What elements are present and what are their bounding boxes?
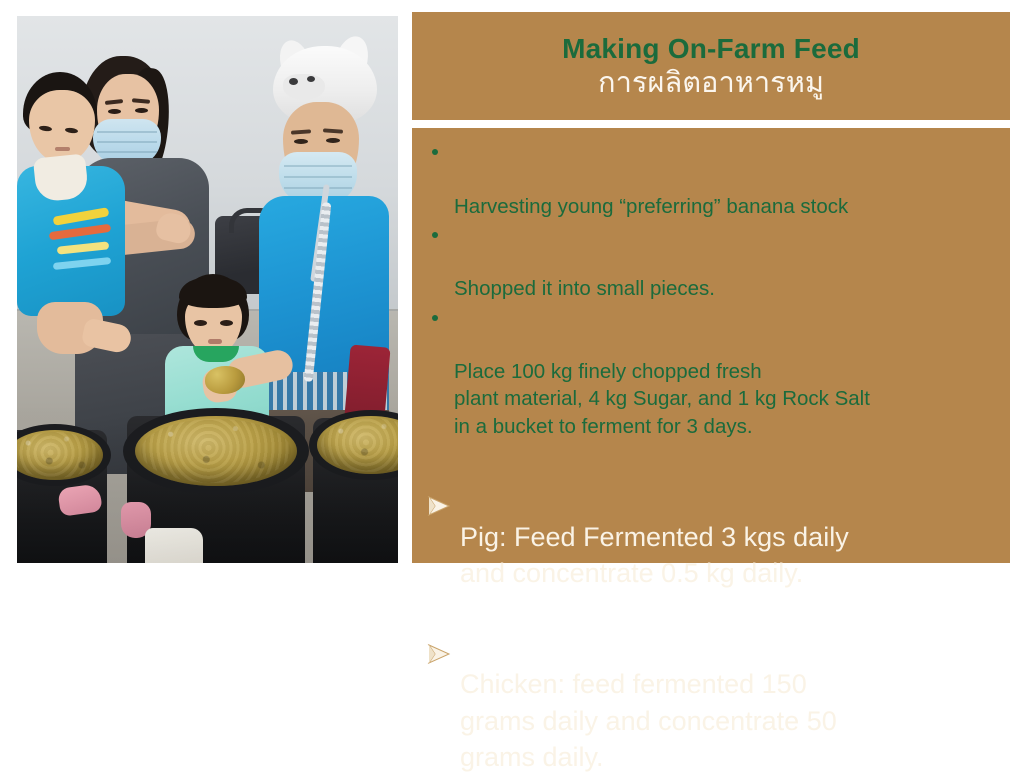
white-cloth: [145, 528, 203, 563]
content-panel: Harvesting young “preferring” banana sto…: [412, 128, 1010, 563]
title-english: Making On-Farm Feed: [562, 34, 860, 63]
list-item: Chicken: feed fermented 150 grams daily …: [420, 594, 998, 776]
bullet-text: Harvesting young “preferring” banana sto…: [454, 195, 848, 218]
bullet-text: Pig: Feed Fermented 3 kgs daily and conc…: [460, 522, 849, 588]
fermented-feed-center: [135, 416, 297, 486]
bullet-dot-icon: [432, 149, 438, 155]
woman-center-eye-left: [108, 109, 121, 114]
bullet-text: Shopped it into small pieces.: [454, 277, 715, 300]
woman-right-eye-left: [294, 139, 308, 144]
girl-eye-left: [194, 320, 207, 326]
arrow-bullet-icon: [426, 454, 452, 476]
bullet-list-primary: Harvesting young “preferring” banana sto…: [420, 138, 998, 440]
girl-eye-right: [220, 320, 233, 326]
husky-hat-nose: [289, 78, 298, 85]
husky-hat-snout: [283, 74, 325, 100]
baby-mouth: [55, 147, 70, 151]
woman-right-eye-right: [326, 138, 340, 143]
woman-center-eye-right: [135, 108, 148, 113]
list-item: Harvesting young “preferring” banana sto…: [420, 138, 998, 220]
bullet-text: Place 100 kg finely chopped fresh plant …: [454, 360, 870, 438]
bullet-dot-icon: [432, 232, 438, 238]
bullet-text: Chicken: feed fermented 150 grams daily …: [460, 669, 837, 772]
bullet-dot-icon: [432, 315, 438, 321]
list-item: Place 100 kg finely chopped fresh plant …: [420, 304, 998, 440]
arrow-bullet-icon: [426, 602, 452, 624]
girl-mouth: [208, 339, 222, 344]
list-item: Shopped it into small pieces.: [420, 221, 998, 303]
farm-photo: [17, 16, 398, 563]
slide: Making On-Farm Feed การผลิตอาหารหมู Harv…: [0, 0, 1024, 576]
bullet-list-secondary: Pig: Feed Fermented 3 kgs daily and conc…: [420, 446, 998, 776]
photo-canvas: [17, 16, 398, 563]
title-panel: Making On-Farm Feed การผลิตอาหารหมู: [412, 12, 1010, 120]
girl-fringe: [179, 278, 247, 308]
husky-hat-eye: [307, 76, 315, 82]
title-thai: การผลิตอาหารหมู: [598, 67, 824, 100]
list-item: Pig: Feed Fermented 3 kgs daily and conc…: [420, 446, 998, 592]
